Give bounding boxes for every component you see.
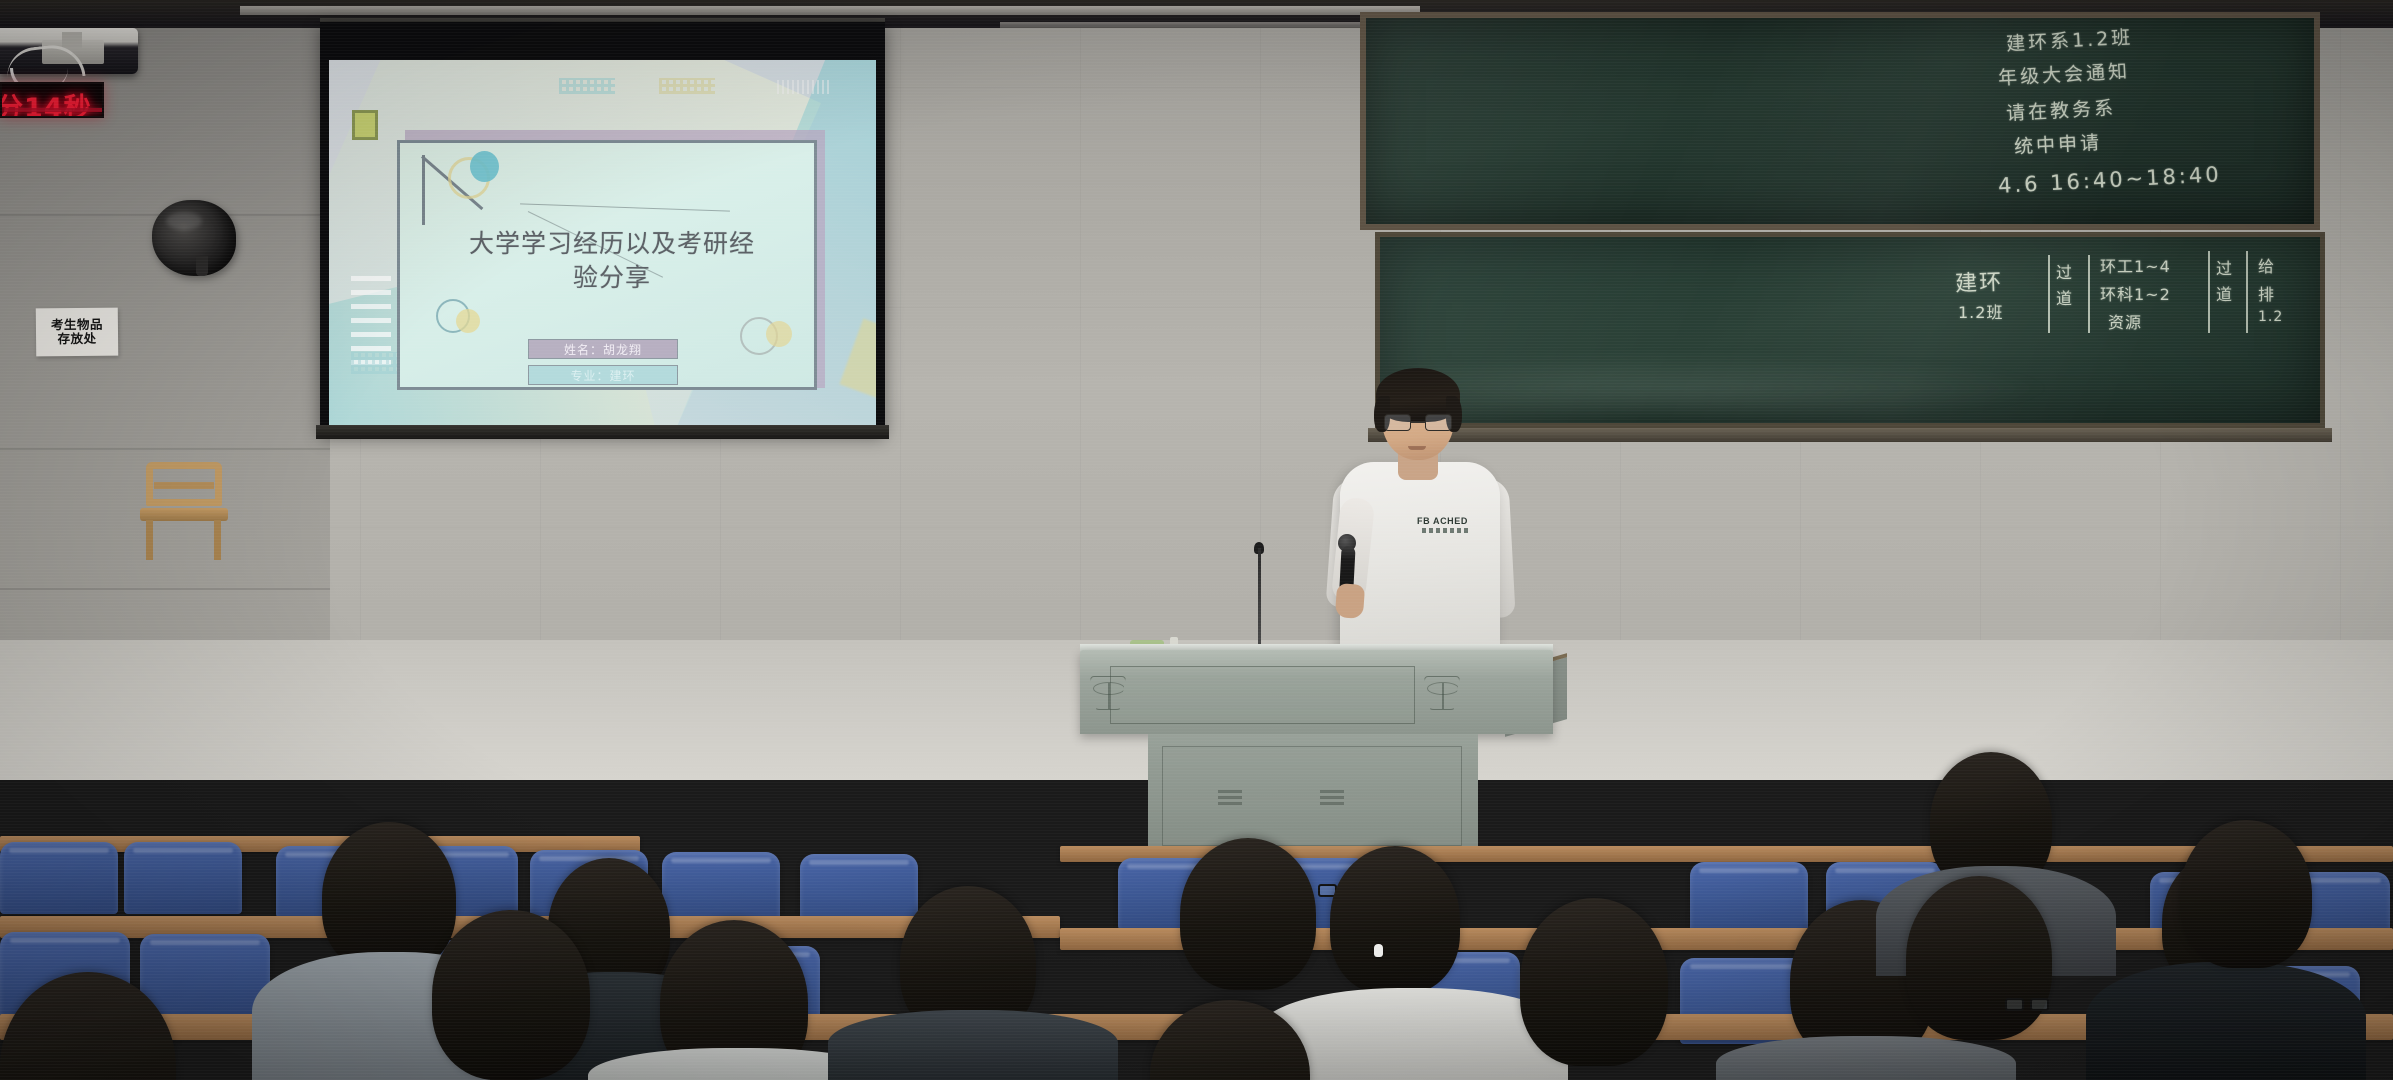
speaker-hoodie-logo: FB ACHED	[1417, 516, 1468, 526]
chalkboard-main: 建环 1.2班 过 道 环工1~4 环科1~2 资源 过 道 给 排 1.2	[1375, 232, 2325, 428]
seat[interactable]	[662, 852, 780, 924]
led-underline	[4, 108, 102, 112]
chalk-col2-line1: 环工1~4	[2100, 253, 2171, 277]
audience-head	[2180, 820, 2312, 968]
seat[interactable]	[140, 934, 270, 1020]
chalk-col3-line2: 排	[2258, 281, 2275, 305]
seat[interactable]	[1690, 862, 1808, 934]
ceiling-light-strip	[240, 6, 1420, 15]
chalk-col1-line2: 1.2班	[1958, 299, 2003, 323]
audience-head	[1180, 838, 1316, 990]
fan-highlight	[166, 212, 202, 230]
podium-inset-panel	[1110, 666, 1415, 724]
speaker-hand	[1335, 583, 1365, 619]
chalk-div2-line2: 道	[2216, 281, 2233, 305]
lecture-hall-scene: 分14秒 考生物品 存放处	[0, 0, 2393, 1080]
slide-title: 大学学习经历以及考研经 验分享	[426, 227, 798, 294]
projected-slide: 大学学习经历以及考研经 验分享 姓名：胡龙翔 专业：建环	[329, 60, 876, 426]
chair-slat	[154, 482, 214, 489]
chalkboard-upper: 建环系1.2班 年级大会通知 请在教务系 统中申请 4.6 16:40~18:4…	[1360, 12, 2320, 230]
chalkboard-upper-sheen	[1366, 18, 2314, 224]
led-timer-display: 分14秒	[0, 82, 104, 118]
chalk-upper-line-3: 请在教务系	[2005, 93, 2116, 126]
audience-shoulders	[2086, 962, 2366, 1080]
audience-glasses-icon-2	[2005, 998, 2051, 1011]
chalk-col2-line3: 资源	[2108, 309, 2142, 333]
seat[interactable]	[0, 842, 118, 914]
slide-square-decoration	[352, 110, 378, 140]
card-vertical-line	[422, 155, 425, 225]
led-timer-text: 分14秒	[0, 86, 92, 118]
slide-content-card: 大学学习经历以及考研经 验分享 姓名：胡龙翔 专业：建环	[397, 140, 817, 390]
wall-mounted-fan	[152, 200, 236, 276]
projector-bracket-icon	[62, 32, 82, 48]
chalk-divider-line-2	[2088, 255, 2090, 333]
speaker-mouth	[1408, 446, 1426, 450]
slide-dot-grid-1	[559, 78, 615, 94]
seat[interactable]	[124, 842, 242, 914]
projection-screen-frame: 大学学习经历以及考研经 验分享 姓名：胡龙翔 专业：建环	[320, 22, 885, 434]
podium-microphone-stand	[1258, 548, 1261, 650]
ceiling-projector	[0, 28, 138, 74]
chalk-upper-line-1: 建环系1.2班	[2005, 23, 2133, 57]
slide-title-line-1: 大学学习经历以及考研经	[426, 227, 798, 261]
card-hairline-1	[520, 203, 730, 211]
chalk-col2-line2: 环科1~2	[2100, 281, 2171, 305]
chalk-col1-line1: 建环	[1954, 264, 2003, 298]
fan-mount-stem	[196, 256, 208, 276]
chalk-divider-line-1	[2048, 255, 2050, 333]
card-yellow-dot-right	[766, 321, 792, 347]
chalk-col3-line1: 给	[2258, 253, 2275, 277]
audience-head	[1330, 846, 1460, 994]
slide-badge-major-text: 专业：建环	[570, 367, 635, 384]
slide-title-line-2: 验分享	[426, 261, 798, 295]
chalk-upper-line-5: 4.6 16:40~18:40	[1998, 162, 2223, 198]
slide-badge-major: 专业：建环	[528, 365, 678, 385]
chalk-div1-line1: 过	[2056, 259, 2073, 283]
slide-badge-name: 姓名：胡龙翔	[528, 339, 678, 359]
slide-wave-decoration	[777, 80, 829, 94]
slide-dot-grid-2	[659, 78, 715, 94]
exam-belongings-sign: 考生物品 存放处	[36, 308, 118, 357]
chalk-divider-line-3	[2208, 251, 2210, 333]
audience-head	[322, 822, 456, 972]
card-teal-dot	[470, 151, 499, 182]
podium-cabinet-door	[1162, 746, 1462, 846]
wooden-chair	[140, 462, 228, 560]
chalk-div1-line2: 道	[2056, 285, 2073, 309]
chalk-upper-line-4: 统中申请	[2013, 128, 2102, 160]
card-yellow-dot	[456, 309, 480, 333]
speaker-hoodie-logo-underline	[1422, 528, 1468, 533]
audience-earbud-icon	[1374, 944, 1383, 957]
chalk-divider-line-4	[2246, 251, 2248, 333]
chalkboard-smudge	[1410, 351, 2068, 413]
podium-vent-left-icon	[1218, 790, 1242, 793]
slide-badge-name-text: 姓名：胡龙翔	[564, 341, 642, 358]
audience-shoulders	[828, 1010, 1118, 1080]
chalk-div2-line1: 过	[2216, 255, 2233, 279]
podium-vent-right-icon	[1320, 790, 1344, 793]
chalk-upper-line-2: 年级大会通知	[1997, 57, 2130, 91]
sign-line-2: 存放处	[57, 332, 96, 346]
audience-shoulders	[1716, 1036, 2016, 1080]
speaker-glasses-icon	[1384, 414, 1452, 431]
audience-head	[432, 910, 590, 1080]
audience-head	[1906, 876, 2052, 1040]
screen-bottom-bezel	[316, 425, 889, 439]
chalkboard-tray	[1368, 428, 2332, 442]
chalk-col3-line3: 1.2	[2258, 309, 2283, 325]
audience-head	[1520, 898, 1668, 1066]
